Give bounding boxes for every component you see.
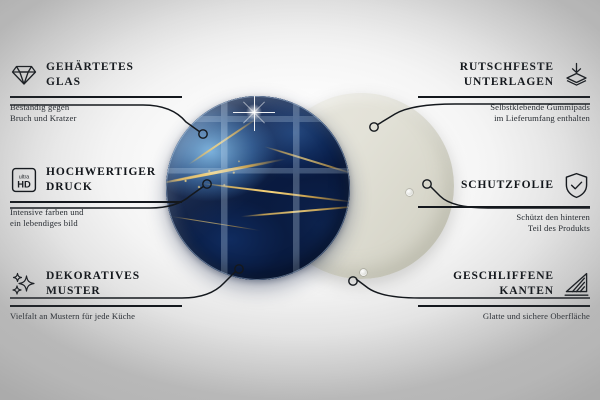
sparkles-icon [10,270,38,298]
feature-hochwertiger-druck: ultra HD HOCHWERTIGER DRUCK Intensive fa… [10,163,182,230]
anti-slip-pad-icon [562,61,590,89]
glass-board-front-disc [166,96,350,280]
feature-description: Selbstklebende Gummipads im Lieferumfang… [418,102,590,126]
rubber-pad [406,189,413,196]
feature-divider [10,201,182,203]
feature-title: HOCHWERTIGER DRUCK [46,165,156,195]
ultra-hd-icon: ultra HD [10,166,38,194]
feature-header: ultra HD HOCHWERTIGER DRUCK [10,163,182,197]
feature-description: Schützt den hinteren Teil des Produkts [418,212,590,236]
feature-header: GEHÄRTETES GLAS [10,58,182,92]
shield-check-icon [562,171,590,199]
feature-title: GESCHLIFFENE KANTEN [453,269,554,299]
rubber-pad [360,269,367,276]
feature-description: Glatte und sichere Oberfläche [418,311,590,323]
feature-header: DEKORATIVES MUSTER [10,267,182,301]
feature-title: SCHUTZFOLIE [461,178,554,193]
feature-divider [418,206,590,208]
feature-header: SCHUTZFOLIE [418,168,590,202]
feature-header: RUTSCHFESTE UNTERLAGEN [418,58,590,92]
feature-title: RUTSCHFESTE UNTERLAGEN [460,60,554,90]
feature-divider [10,305,182,307]
feature-title: GEHÄRTETES GLAS [46,60,134,90]
diamond-icon [10,61,38,89]
feature-description: Beständig gegen Bruch und Kratzer [10,102,182,126]
feature-gehaertetes-glas: GEHÄRTETES GLAS Beständig gegen Bruch un… [10,58,182,125]
infographic-canvas: GEHÄRTETES GLAS Beständig gegen Bruch un… [0,0,600,400]
feature-description: Vielfalt an Mustern für jede Küche [10,311,182,323]
feature-dekoratives-muster: DEKORATIVES MUSTER Vielfalt an Mustern f… [10,267,182,322]
beveled-edge-icon [562,270,590,298]
feature-divider [418,96,590,98]
feature-divider [10,96,182,98]
svg-text:HD: HD [17,178,31,189]
feature-geschliffene-kanten: GESCHLIFFENE KANTEN Glatte und sichere O… [418,267,590,322]
feature-schutzfolie: SCHUTZFOLIE Schützt den hinteren Teil de… [418,168,590,235]
feature-rutschfeste-unterlagen: RUTSCHFESTE UNTERLAGEN Selbstklebende Gu… [418,58,590,125]
feature-divider [418,305,590,307]
feature-description: Intensive farben und ein lebendiges bild [10,207,182,231]
feature-title: DEKORATIVES MUSTER [46,269,140,299]
glass-edge-rim [166,96,350,280]
feature-header: GESCHLIFFENE KANTEN [418,267,590,301]
